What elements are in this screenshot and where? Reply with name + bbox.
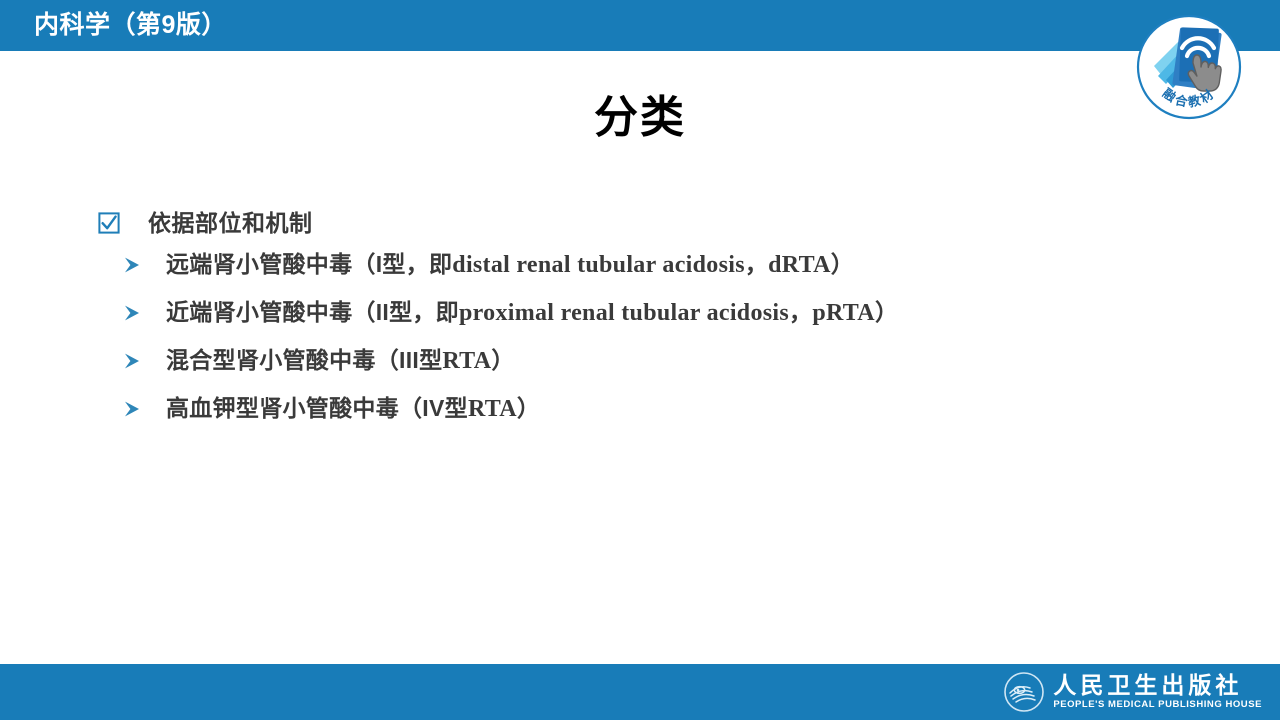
item-en-abbr: pRTA [812, 300, 875, 326]
header-bar: 内科学（第9版） [0, 0, 1280, 51]
list-item-level2-label: 远端肾小管酸中毒（I型，即distal renal tubular acidos… [166, 248, 854, 281]
item-cn-text: 近端肾小管酸中毒（II型，即 [166, 299, 459, 325]
arrow-right-icon [122, 303, 142, 323]
list-item-level1: 依据部位和机制 [98, 208, 1280, 248]
list-item-level2: 高血钾型肾小管酸中毒（IV型RTA） [122, 392, 1280, 440]
publisher-name-en: PEOPLE'S MEDICAL PUBLISHING HOUSE [1053, 699, 1262, 711]
list-item-level2-label: 近端肾小管酸中毒（II型，即proximal renal tubular aci… [166, 296, 898, 329]
list-item-level2: 远端肾小管酸中毒（I型，即distal renal tubular acidos… [122, 248, 1280, 296]
arrow-right-icon [122, 351, 142, 371]
item-cn-sep: ， [745, 251, 768, 277]
item-en-text: proximal renal tubular acidosis [459, 300, 789, 326]
list-item-level2: 近端肾小管酸中毒（II型，即proximal renal tubular aci… [122, 296, 1280, 344]
publisher-name-cn: 人民卫生出版社 [1053, 673, 1262, 697]
item-en-text: distal renal tubular acidosis [452, 252, 745, 278]
header-title: 内科学（第9版） [34, 9, 227, 41]
item-en-text: RTA [468, 396, 517, 422]
publisher-text-block: 人民卫生出版社 PEOPLE'S MEDICAL PUBLISHING HOUS… [1053, 673, 1262, 711]
item-close-paren: ） [831, 251, 854, 277]
list-item-level2-label: 混合型肾小管酸中毒（III型RTA） [166, 344, 515, 377]
item-cn-text: 混合型肾小管酸中毒（III型 [166, 347, 442, 373]
list-item-level1-label: 依据部位和机制 [148, 208, 313, 238]
item-close-paren: ） [875, 299, 898, 325]
publisher-logo: 人民卫生出版社 PEOPLE'S MEDICAL PUBLISHING HOUS… [1003, 672, 1262, 712]
item-cn-sep: ， [789, 299, 812, 325]
checkbox-checked-icon [98, 212, 120, 234]
arrow-right-icon [122, 255, 142, 275]
content-body: 依据部位和机制 远端肾小管酸中毒（I型，即distal renal tubula… [0, 208, 1280, 440]
arrow-right-icon [122, 399, 142, 419]
item-cn-text: 远端肾小管酸中毒（I型，即 [166, 251, 452, 277]
item-en-abbr: dRTA [768, 252, 831, 278]
item-en-text: RTA [442, 348, 491, 374]
list-item-level2-label: 高血钾型肾小管酸中毒（IV型RTA） [166, 392, 540, 425]
slide-root: 内科学（第9版） [0, 0, 1280, 720]
item-cn-text: 高血钾型肾小管酸中毒（IV型 [166, 395, 468, 421]
list-item-level2: 混合型肾小管酸中毒（III型RTA） [122, 344, 1280, 392]
publisher-wave-emblem-icon [1003, 671, 1045, 713]
item-close-paren: ） [517, 395, 540, 421]
page-title: 分类 [0, 90, 1280, 146]
item-close-paren: ） [491, 347, 514, 373]
footer-bar: 人民卫生出版社 PEOPLE'S MEDICAL PUBLISHING HOUS… [0, 664, 1280, 720]
